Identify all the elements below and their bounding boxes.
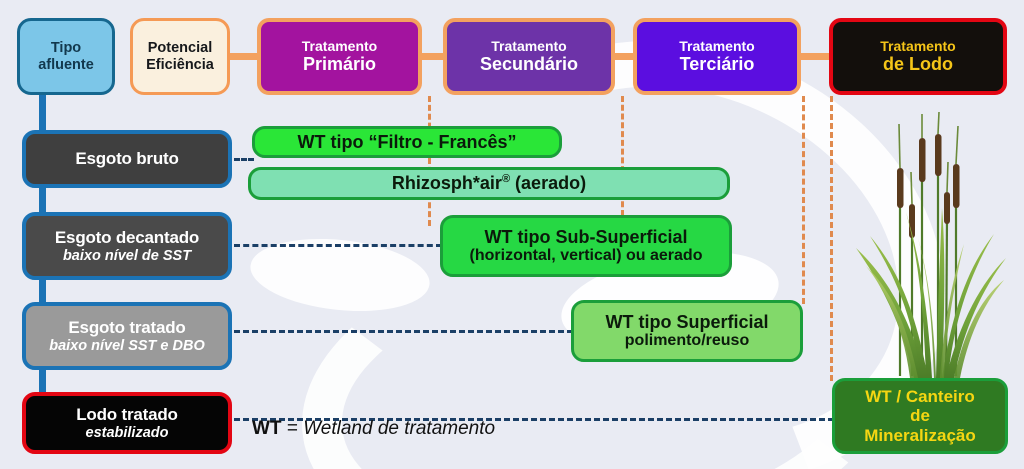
header-line1: Tratamento bbox=[679, 39, 754, 55]
treatment-title: WT tipo Sub-Superficial bbox=[485, 227, 688, 247]
treatment-rhizosphair[interactable]: Rhizosph*air® (aerado) bbox=[248, 167, 730, 200]
header-line2: afluente bbox=[38, 57, 94, 73]
node-esgoto-bruto[interactable]: Esgoto bruto bbox=[22, 130, 232, 188]
node-subtitle: baixo nível SST e DBO bbox=[49, 338, 205, 354]
treatment-line3: Mineralização bbox=[864, 426, 976, 445]
primario-drop-line bbox=[428, 96, 431, 226]
header-line2: Terciário bbox=[680, 54, 755, 74]
node-title: Esgoto tratado bbox=[68, 318, 185, 337]
header-tratamento-terciario[interactable]: Tratamento Terciário bbox=[633, 18, 801, 95]
link-bruto-to-filtro bbox=[234, 158, 254, 161]
node-title: Lodo tratado bbox=[76, 405, 177, 424]
treatment-wt-canteiro-mineralizacao[interactable]: WT / Canteiro de Mineralização bbox=[832, 378, 1008, 454]
header-line1: Tratamento bbox=[880, 39, 955, 55]
legend-wt-definition: WT = Wetland de tratamento bbox=[252, 418, 495, 440]
link-tratado-to-superficial bbox=[234, 330, 573, 333]
link-decantado-to-subsuperficial bbox=[234, 244, 442, 247]
treatment-subtitle: (horizontal, vertical) ou aerado bbox=[470, 247, 703, 265]
treatment-line2: de bbox=[910, 406, 930, 425]
node-subtitle: estabilizado bbox=[86, 425, 169, 441]
header-tipo-afluente[interactable]: Tipo afluente bbox=[17, 18, 115, 95]
treatment-wt-sub-superficial[interactable]: WT tipo Sub-Superficial (horizontal, ver… bbox=[440, 215, 732, 277]
legend-equals: = bbox=[282, 418, 304, 439]
header-potencial-eficiencia[interactable]: Potencial Eficiência bbox=[130, 18, 230, 95]
treatment-wt-superficial[interactable]: WT tipo Superficial polimento/reuso bbox=[571, 300, 803, 362]
cattail-plant-icon bbox=[848, 108, 1008, 380]
node-subtitle: baixo nível de SST bbox=[63, 248, 191, 264]
treatment-title: Rhizosph*air® (aerado) bbox=[392, 173, 586, 193]
header-line2: de Lodo bbox=[883, 54, 953, 74]
header-line2: Secundário bbox=[480, 54, 578, 74]
header-line2: Primário bbox=[303, 54, 376, 74]
node-lodo-tratado[interactable]: Lodo tratado estabilizado bbox=[22, 392, 232, 454]
legend-definition: Wetland de tratamento bbox=[303, 418, 495, 439]
rhizosphair-prefix: Rhizosph*air bbox=[392, 173, 502, 193]
header-line1: Potencial bbox=[148, 40, 212, 56]
header-line1: Tipo bbox=[51, 40, 81, 56]
legend-abbr: WT bbox=[252, 418, 282, 439]
header-line2: Eficiência bbox=[146, 57, 214, 73]
treatment-wt-filtro-frances[interactable]: WT tipo “Filtro - Francês” bbox=[252, 126, 562, 158]
treatment-title: WT tipo Superficial bbox=[605, 312, 768, 332]
header-tratamento-secundario[interactable]: Tratamento Secundário bbox=[443, 18, 615, 95]
treatment-line1: WT / Canteiro bbox=[865, 387, 975, 406]
terciario-drop-line bbox=[802, 96, 805, 304]
header-tratamento-de-lodo[interactable]: Tratamento de Lodo bbox=[829, 18, 1007, 95]
node-title: Esgoto decantado bbox=[55, 228, 199, 247]
node-esgoto-decantado[interactable]: Esgoto decantado baixo nível de SST bbox=[22, 212, 232, 280]
header-line1: Tratamento bbox=[302, 39, 377, 55]
header-line1: Tratamento bbox=[491, 39, 566, 55]
node-esgoto-tratado[interactable]: Esgoto tratado baixo nível SST e DBO bbox=[22, 302, 232, 370]
treatment-subtitle: polimento/reuso bbox=[625, 332, 749, 350]
header-tratamento-primario[interactable]: Tratamento Primário bbox=[257, 18, 422, 95]
registered-trademark-icon: ® bbox=[502, 173, 510, 185]
diagram-canvas: Tipo afluente Potencial Eficiência Trata… bbox=[0, 0, 1024, 469]
node-title: Esgoto bruto bbox=[75, 149, 178, 168]
rhizosphair-suffix: (aerado) bbox=[510, 173, 586, 193]
lodo-drop-line bbox=[830, 96, 833, 381]
treatment-title: WT tipo “Filtro - Francês” bbox=[298, 132, 517, 152]
